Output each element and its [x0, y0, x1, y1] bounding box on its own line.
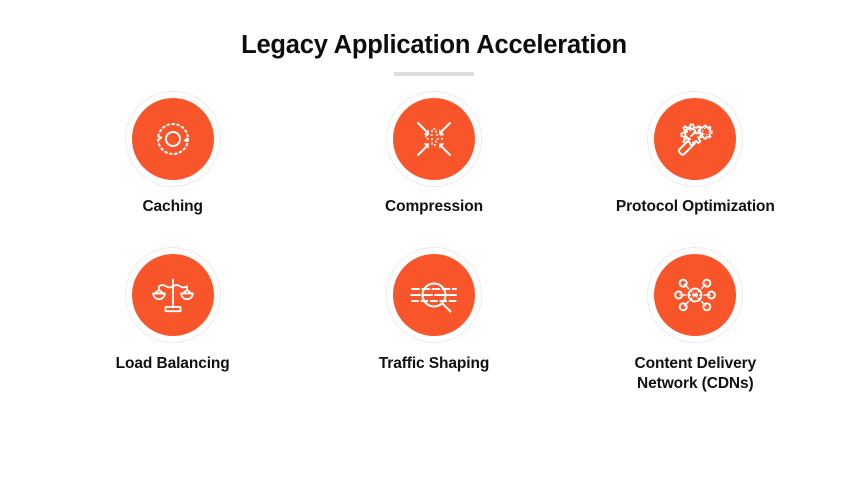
icon-badge: [393, 98, 475, 180]
feature-item-protocol-optimization[interactable]: Protocol Optimization: [565, 98, 826, 217]
feature-label: Caching: [142, 197, 202, 217]
icon-badge: [654, 98, 736, 180]
feature-item-load-balancing[interactable]: Load Balancing: [42, 254, 303, 394]
cache-refresh-icon: [150, 116, 196, 162]
feature-label: Compression: [385, 197, 483, 217]
feature-item-compression[interactable]: Compression: [303, 98, 564, 217]
page-title: Legacy Application Acceleration: [0, 30, 868, 61]
magnifier-traffic-lines-icon: [409, 270, 459, 320]
balance-scale-icon: [150, 272, 196, 318]
icon-badge: [654, 254, 736, 336]
feature-grid: Caching: [0, 98, 868, 394]
feature-label: Traffic Shaping: [379, 354, 489, 374]
compress-arrows-inward-icon: [411, 116, 457, 162]
icon-badge: [393, 254, 475, 336]
icon-badge: [132, 254, 214, 336]
feature-item-caching[interactable]: Caching: [42, 98, 303, 217]
feature-item-cdn[interactable]: Content Delivery Network (CDNs): [565, 254, 826, 394]
feature-label: Content Delivery Network (CDNs): [635, 354, 757, 394]
slide-canvas: Legacy Application Acceleration Caching: [0, 0, 868, 488]
network-hub-nodes-icon: [671, 271, 719, 319]
title-underline-rule: [394, 72, 474, 76]
icon-badge: [132, 98, 214, 180]
wrench-gears-icon: [671, 115, 719, 163]
feature-item-traffic-shaping[interactable]: Traffic Shaping: [303, 254, 564, 394]
feature-label: Protocol Optimization: [616, 197, 775, 217]
title-block: Legacy Application Acceleration: [0, 0, 868, 76]
feature-label: Load Balancing: [116, 354, 230, 374]
